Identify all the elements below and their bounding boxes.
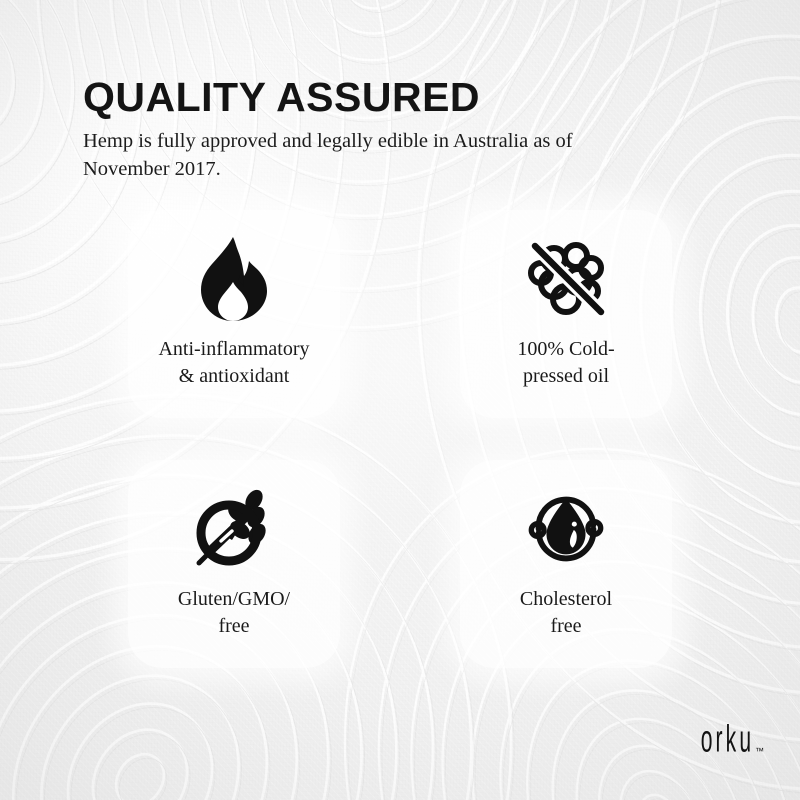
- cholesterol-free-droplet-icon: [523, 486, 609, 572]
- trademark-symbol: ™: [755, 747, 764, 756]
- feature-label: Anti-inflammatory & antioxidant: [152, 336, 315, 390]
- brand-logo: orku ™: [668, 724, 764, 758]
- feature-label: Gluten/GMO/ free: [172, 586, 296, 640]
- feature-card-anti-inflammatory: Anti-inflammatory & antioxidant: [128, 210, 340, 418]
- feature-card-cholesterol-free: Cholesterol free: [460, 460, 672, 668]
- feature-grid: Anti-inflammatory & antioxidant: [128, 210, 672, 668]
- flame-icon: [191, 236, 277, 322]
- page-subtitle: Hemp is fully approved and legally edibl…: [83, 128, 613, 183]
- feature-label: Cholesterol free: [514, 586, 618, 640]
- feature-card-gluten-gmo-free: Gluten/GMO/ free: [128, 460, 340, 668]
- header: QUALITY ASSURED Hemp is fully approved a…: [83, 76, 703, 183]
- quality-assured-infographic: QUALITY ASSURED Hemp is fully approved a…: [0, 0, 800, 800]
- feature-card-cold-pressed: 100% Cold- pressed oil: [460, 210, 672, 418]
- no-heat-cluster-icon: [523, 236, 609, 322]
- brand-wordmark: orku: [701, 720, 754, 758]
- feature-label: 100% Cold- pressed oil: [511, 336, 620, 390]
- page-title: QUALITY ASSURED: [83, 76, 703, 119]
- no-gluten-wheat-icon: [191, 486, 277, 572]
